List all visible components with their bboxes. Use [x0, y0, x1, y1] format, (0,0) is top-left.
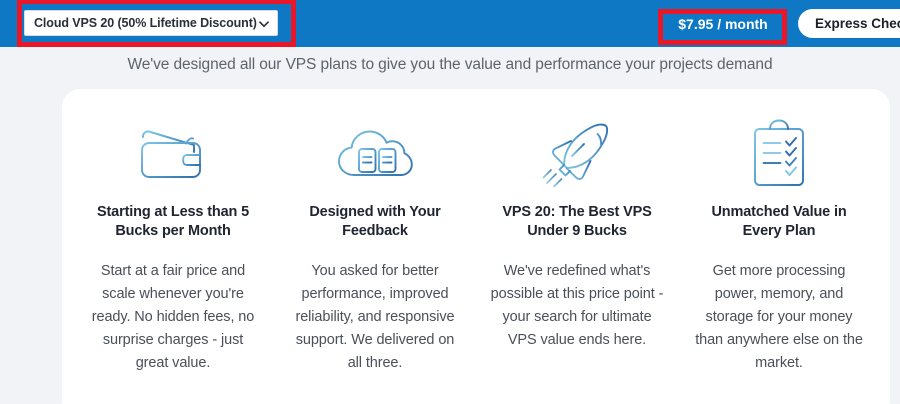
feature-title: Designed with Your Feedback — [288, 203, 462, 241]
vps-plans-page: Cloud VPS 20 (50% Lifetime Discount) $7.… — [0, 0, 900, 404]
price-display: $7.95 / month — [664, 13, 782, 35]
feature-title: VPS 20: The Best VPS Under 9 Bucks — [490, 203, 664, 241]
express-checkout-label: Express Chec — [815, 16, 900, 31]
express-checkout-button[interactable]: Express Chec — [798, 9, 900, 38]
feature-item-value: Unmatched Value in Every Plan Get more p… — [678, 111, 880, 404]
feature-body: Get more processing power, memory, and s… — [692, 260, 866, 375]
feature-item-feedback: Designed with Your Feedback You asked fo… — [274, 111, 476, 404]
page-subtitle: We've designed all our VPS plans to give… — [0, 56, 900, 74]
feature-item-pricing: Starting at Less than 5 Bucks per Month … — [72, 111, 274, 404]
feature-title: Unmatched Value in Every Plan — [692, 203, 866, 241]
clipboard-checklist-icon — [736, 111, 822, 197]
checkout-topbar: Cloud VPS 20 (50% Lifetime Discount) $7.… — [0, 0, 900, 47]
feature-body: We've redefined what's possible at this … — [490, 260, 664, 352]
feature-item-best-vps: VPS 20: The Best VPS Under 9 Bucks We've… — [476, 111, 678, 404]
feature-body: Start at a fair price and scale whenever… — [86, 260, 260, 375]
feature-title: Starting at Less than 5 Bucks per Month — [86, 203, 260, 241]
cloud-servers-icon — [332, 111, 418, 197]
wallet-icon — [130, 111, 216, 197]
rocket-icon — [534, 111, 620, 197]
plan-selector-label: Cloud VPS 20 (50% Lifetime Discount) — [34, 16, 257, 30]
plan-selector-dropdown[interactable]: Cloud VPS 20 (50% Lifetime Discount) — [24, 10, 278, 36]
price-value: $7.95 / month — [678, 16, 767, 32]
chevron-down-icon — [258, 18, 270, 30]
features-card: Starting at Less than 5 Bucks per Month … — [62, 89, 890, 404]
feature-body: You asked for better performance, improv… — [288, 260, 462, 375]
features-row: Starting at Less than 5 Bucks per Month … — [62, 89, 890, 404]
